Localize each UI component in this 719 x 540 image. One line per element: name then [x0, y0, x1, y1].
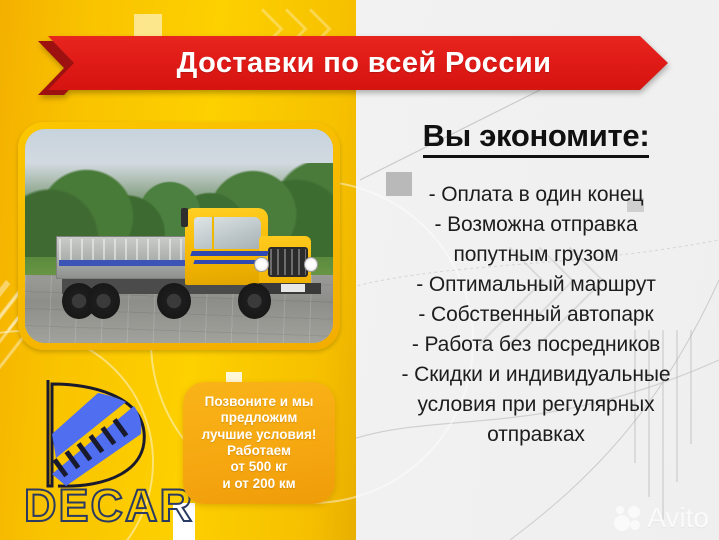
truck-grille [268, 247, 308, 277]
truck-side-stripe [194, 260, 263, 264]
truck-side-stripe [190, 251, 269, 256]
decar-logo: DECAR [22, 362, 182, 530]
list-item: - Скидки и индивидуальные условия при ре… [360, 360, 712, 450]
decar-wordmark: DECAR [24, 483, 194, 528]
avito-dots-icon [613, 505, 643, 531]
truck-license-plate [281, 284, 306, 292]
list-item: - Собственный автопарк [360, 300, 712, 330]
benefits-headline: Вы экономите: [423, 118, 650, 158]
advertisement-banner: Доставки по всей России [0, 0, 719, 540]
truck-photo-frame [18, 122, 340, 350]
benefits-column: Вы экономите: - Оплата в один конец - Во… [360, 116, 712, 536]
truck-mirror [181, 208, 189, 227]
truck-bed-stripe [59, 260, 188, 266]
promo-badge: Позвоните и мы предложим лучшие условия!… [183, 382, 335, 504]
list-item: - Работа без посредников [360, 330, 712, 360]
avito-watermark-text: Avito [647, 504, 709, 532]
truck-headlight [254, 257, 268, 272]
promo-badge-text: Позвоните и мы предложим лучшие условия!… [202, 394, 317, 493]
benefits-list: - Оплата в один конец - Возможна отправк… [360, 180, 712, 450]
truck-windshield [194, 217, 260, 249]
truck-cargo-bed [56, 236, 192, 279]
list-item: - Оптимальный маршрут [360, 270, 712, 300]
ribbon-body: Доставки по всей России [48, 36, 668, 90]
list-item: - Оплата в один конец [360, 180, 712, 210]
avito-watermark: Avito [613, 504, 709, 532]
truck-photo [25, 129, 333, 343]
banner-title: Доставки по всей России [165, 47, 552, 80]
list-item: - Возможна отправка попутным грузом [360, 210, 712, 270]
header-ribbon: Доставки по всей России [38, 36, 668, 90]
